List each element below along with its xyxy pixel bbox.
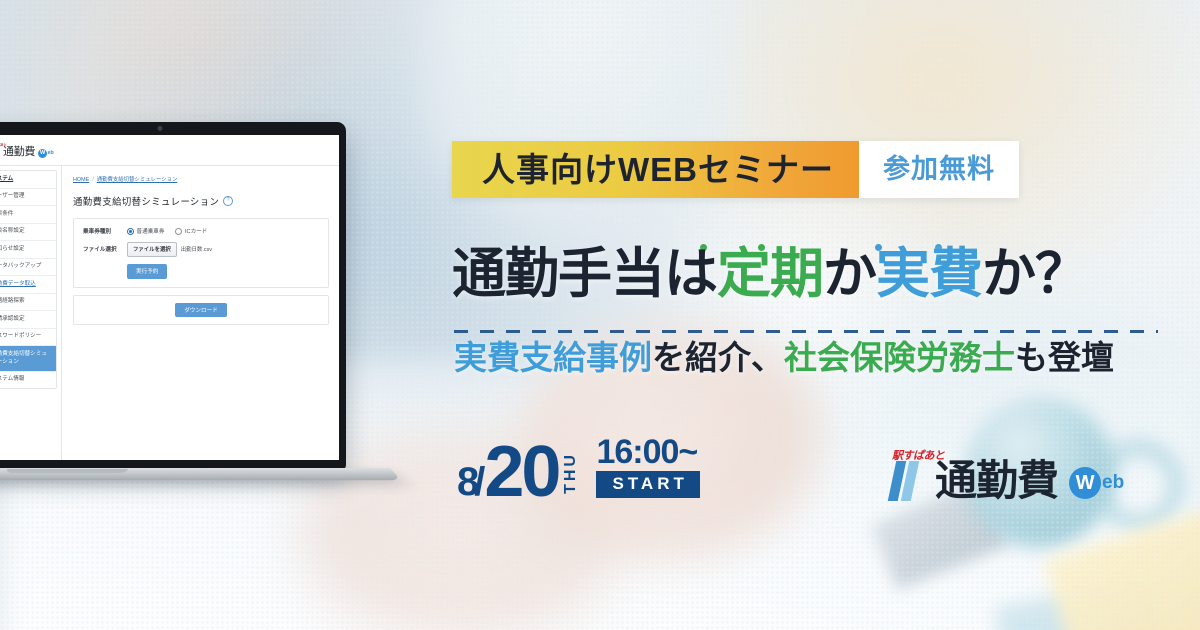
headline: 通勤手当は定期か実費か？: [452, 247, 1088, 301]
ticket-type-row: 乗車券種別 普通乗車券 ICカード: [83, 227, 319, 235]
product-logo: 駅すぱあと 通勤費 W eb: [892, 448, 1124, 501]
subheadline-part-2: を紹介、: [652, 339, 784, 376]
app-logo-web: W eb: [38, 149, 54, 158]
breadcrumb-current[interactable]: 通勤費支給切替シミュレーション: [97, 177, 178, 183]
free-badge: 参加無料: [859, 141, 1019, 198]
subheadline-part-1: 実費支給事例: [454, 339, 652, 376]
page-title: 通勤費支給切替シミュレーション ?: [73, 194, 329, 208]
radio-label-ic-card: ICカード: [185, 227, 207, 235]
sidebar-item-simulation[interactable]: 通勤費支給切替シミュレーション: [0, 346, 56, 371]
logo-bars-icon: 駅すぱあと: [0, 143, 1, 158]
logo-bar-3: [0, 147, 2, 158]
app-logo-word: 通勤費: [3, 147, 35, 158]
logo-eb-text: eb: [1102, 472, 1124, 494]
ribbon-main: 人事向けWEBセミナー: [452, 141, 859, 198]
laptop-base-notch: [5, 469, 128, 473]
file-select-label: ファイル選択: [83, 245, 127, 253]
headline-part-2-teiki: 定期: [717, 244, 823, 304]
app-body: システム ユーザー管理 探索条件 項目名称設定 お知らせ設定 データバックアップ…: [0, 166, 339, 460]
headline-part-3: か: [823, 244, 876, 304]
free-badge-text: 参加無料: [883, 156, 995, 183]
sidebar-item-notice-settings[interactable]: お知らせ設定: [0, 241, 56, 259]
sidebar-item-field-names[interactable]: 項目名称設定: [0, 224, 56, 242]
subheadline-part-3: 社会保険労務士: [784, 339, 1015, 376]
logo-red-label: 駅すぱあと: [0, 142, 7, 147]
breadcrumb-separator: /: [92, 177, 94, 183]
seminar-ribbon: 人事向けWEBセミナー 参加無料: [452, 141, 1019, 198]
app-logo-eb: eb: [48, 150, 54, 156]
radio-dot-icon: [175, 228, 182, 235]
seminar-banner-image: 駅すぱあと 通勤費 W eb: [0, 0, 1200, 630]
subheadline-part-4: も登壇: [1015, 339, 1114, 376]
simulation-form-card: 乗車券種別 普通乗車券 ICカード: [73, 218, 329, 288]
logo-w-circle-icon: W: [1069, 467, 1101, 499]
logo-bars-icon-large: 駅すぱあと: [892, 448, 928, 501]
sidebar-item-system-info[interactable]: システム情報: [0, 372, 56, 389]
headline-part-5: か？: [982, 244, 1088, 304]
sidebar-item-system[interactable]: システム: [0, 171, 56, 189]
breadcrumb-home[interactable]: HOME: [73, 177, 89, 183]
app-sidebar: システム ユーザー管理 探索条件 項目名称設定 お知らせ設定 データバックアップ…: [0, 166, 62, 460]
radio-label-regular-ticket: 普通乗車券: [137, 227, 165, 235]
app-main-content: HOME/通勤費支給切替シミュレーション 通勤費支給切替シミュレーション ? 乗…: [62, 166, 339, 460]
logo-web-mark: W eb: [1069, 467, 1124, 499]
submit-row: 実行予約: [83, 264, 319, 279]
radio-dot-selected-icon: [127, 228, 134, 235]
laptop-base: [0, 468, 401, 480]
laptop-lid: 駅すぱあと 通勤費 W eb: [0, 122, 346, 470]
event-time: 16:00~: [596, 436, 699, 468]
sidebar-item-search-conditions[interactable]: 探索条件: [0, 206, 56, 224]
page-title-text: 通勤費支給切替シミュレーション: [73, 194, 219, 208]
choose-file-button[interactable]: ファイルを選択: [127, 242, 177, 257]
selected-file-name: 出勤日数.csv: [181, 245, 212, 253]
event-start-label: START: [596, 471, 699, 498]
sidebar-item-user-management[interactable]: ユーザー管理: [0, 189, 56, 207]
ribbon-text: 人事向けWEBセミナー: [482, 153, 834, 186]
sidebar-item-optimal-route[interactable]: 最適経路探索: [0, 294, 56, 312]
sidebar-item-data-backup[interactable]: データバックアップ: [0, 259, 56, 277]
event-weekday: THU: [563, 452, 579, 494]
headline-part-1: 通勤手当は: [452, 244, 717, 304]
web-app-screenshot: 駅すぱあと 通勤費 W eb: [0, 135, 339, 460]
event-day: 20: [484, 444, 558, 500]
ticket-type-label: 乗車券種別: [83, 227, 127, 235]
download-button[interactable]: ダウンロード: [175, 303, 227, 318]
help-icon[interactable]: ?: [223, 196, 233, 206]
headline-part-4-jippi: 実費: [876, 244, 982, 304]
download-card: ダウンロード: [73, 295, 329, 326]
dashed-divider: [454, 330, 1158, 333]
event-time-block: 16:00~ START: [596, 436, 699, 498]
app-logo-w-circle-icon: W: [38, 149, 47, 158]
sidebar-item-commute-data-import[interactable]: 通勤費データ取込: [0, 276, 56, 294]
subheadline: 実費支給事例を紹介、社会保険労務士も登壇: [454, 341, 1114, 374]
sidebar-item-password-policy[interactable]: パスワードポリシー: [0, 329, 56, 347]
radio-option-ic-card[interactable]: ICカード: [175, 227, 207, 235]
sidebar-item-approval-settings[interactable]: 申請承認設定: [0, 311, 56, 329]
laptop-screen: 駅すぱあと 通勤費 W eb: [0, 135, 339, 460]
execute-reservation-button[interactable]: 実行予約: [127, 264, 167, 279]
app-header: 駅すぱあと 通勤費 W eb: [0, 135, 339, 166]
laptop-mockup: 駅すぱあと 通勤費 W eb: [0, 122, 346, 470]
file-select-row: ファイル選択 ファイルを選択 出勤日数.csv: [83, 242, 319, 257]
banner-content: 人事向けWEBセミナー 参加無料 通勤手当は定期か実費か？ 実費支給事例を紹介、…: [452, 0, 1200, 630]
breadcrumb: HOME/通勤費支給切替シミュレーション: [73, 175, 329, 183]
app-header-logo[interactable]: 駅すぱあと 通勤費 W eb: [0, 143, 54, 158]
event-date-block: 8 / 20 THU 16:00~ START: [457, 436, 700, 500]
logo-word: 通勤費: [935, 461, 1058, 501]
sidebar-menu-card: システム ユーザー管理 探索条件 項目名称設定 お知らせ設定 データバックアップ…: [0, 170, 57, 389]
radio-option-regular-ticket[interactable]: 普通乗車券: [127, 227, 164, 235]
